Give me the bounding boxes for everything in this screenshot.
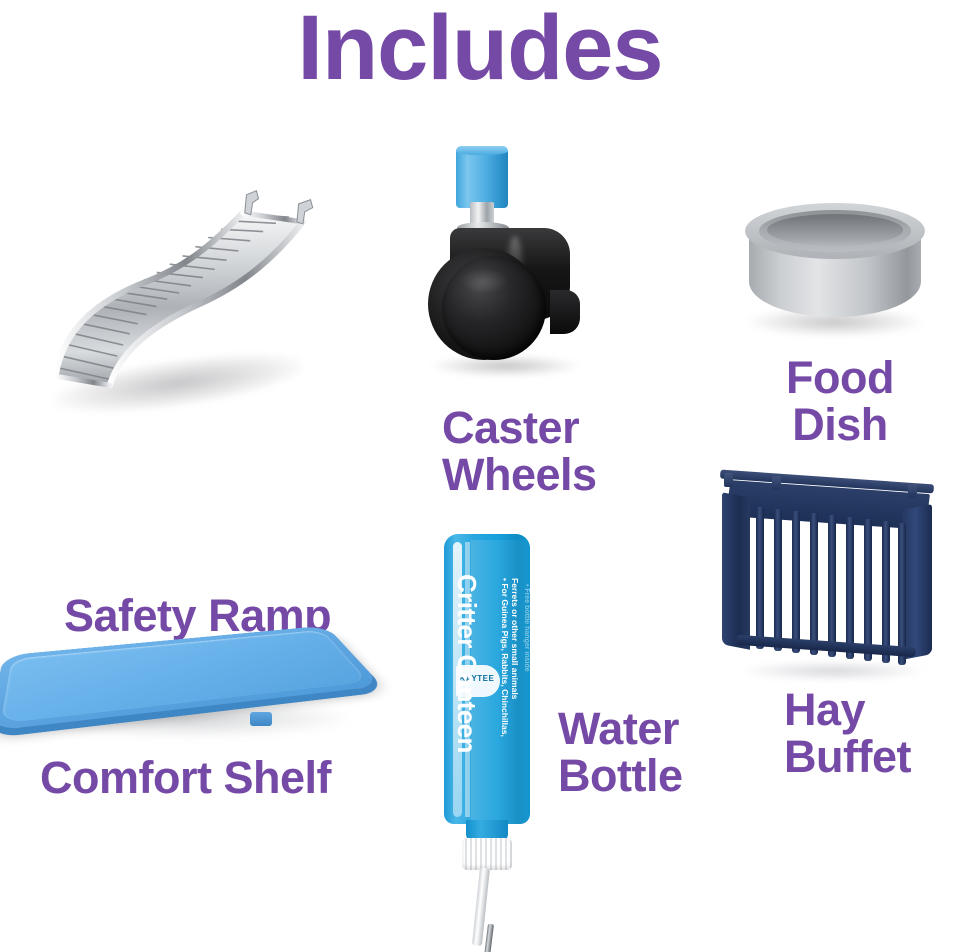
hay-clip-left [724,473,733,487]
hay-bar [864,519,872,661]
bottle-detail-line-3: • Free bottle hanger inside [523,584,530,814]
includes-infographic: Includes [0,0,960,952]
bottle-detail-line-2: Ferrets or other small animals [510,578,520,808]
bottle-cap [462,838,512,870]
bottle-detail-line-1: • For Guinea Pigs, Rabbits, Chinchillas, [500,578,510,808]
bottle-product-name: Critter Canteen [451,574,482,794]
item-hay-buffet: Hay Buffet [712,465,952,700]
caster-wheel-front [442,256,546,360]
hay-bar [828,515,836,657]
hay-side-left [722,492,750,649]
hay-bar [774,509,782,651]
ramp-deck [53,212,306,386]
item-caster-wheels: Caster Wheels [400,140,610,395]
hay-clip-mid [772,476,781,490]
caster-stem-cap [456,146,508,208]
label-food-dish: Food Dish [735,355,945,449]
hay-bar [882,521,890,663]
item-water-bottle: KAYTEE Critter Canteen • For Guinea Pigs… [430,528,560,948]
item-safety-ramp: Safety Ramp [14,150,344,425]
label-caster-wheels: Caster Wheels [442,405,572,499]
hay-side-right [902,504,932,660]
item-comfort-shelf: Comfort Shelf [0,600,385,765]
hay-bar [846,517,854,659]
hay-clip-right [908,484,917,498]
label-hay-buffet: Hay Buffet [784,687,960,781]
page-title: Includes [0,2,960,94]
bowl-interior-shade [767,214,903,246]
ramp-svg [34,176,326,393]
hay-bar [756,507,764,649]
caster-side-lip [550,290,580,334]
item-food-dish: Food Dish [735,195,935,360]
bottle-body: KAYTEE Critter Canteen • For Guinea Pigs… [444,534,530,824]
hay-bar [792,511,800,653]
shelf-latch-tab [250,712,272,726]
hay-bar [810,513,818,655]
wavy-chrome-ramp-icon [34,176,326,393]
hay-bar [898,523,906,665]
label-water-bottle: Water Bottle [558,706,718,800]
label-comfort-shelf: Comfort Shelf [40,755,331,802]
